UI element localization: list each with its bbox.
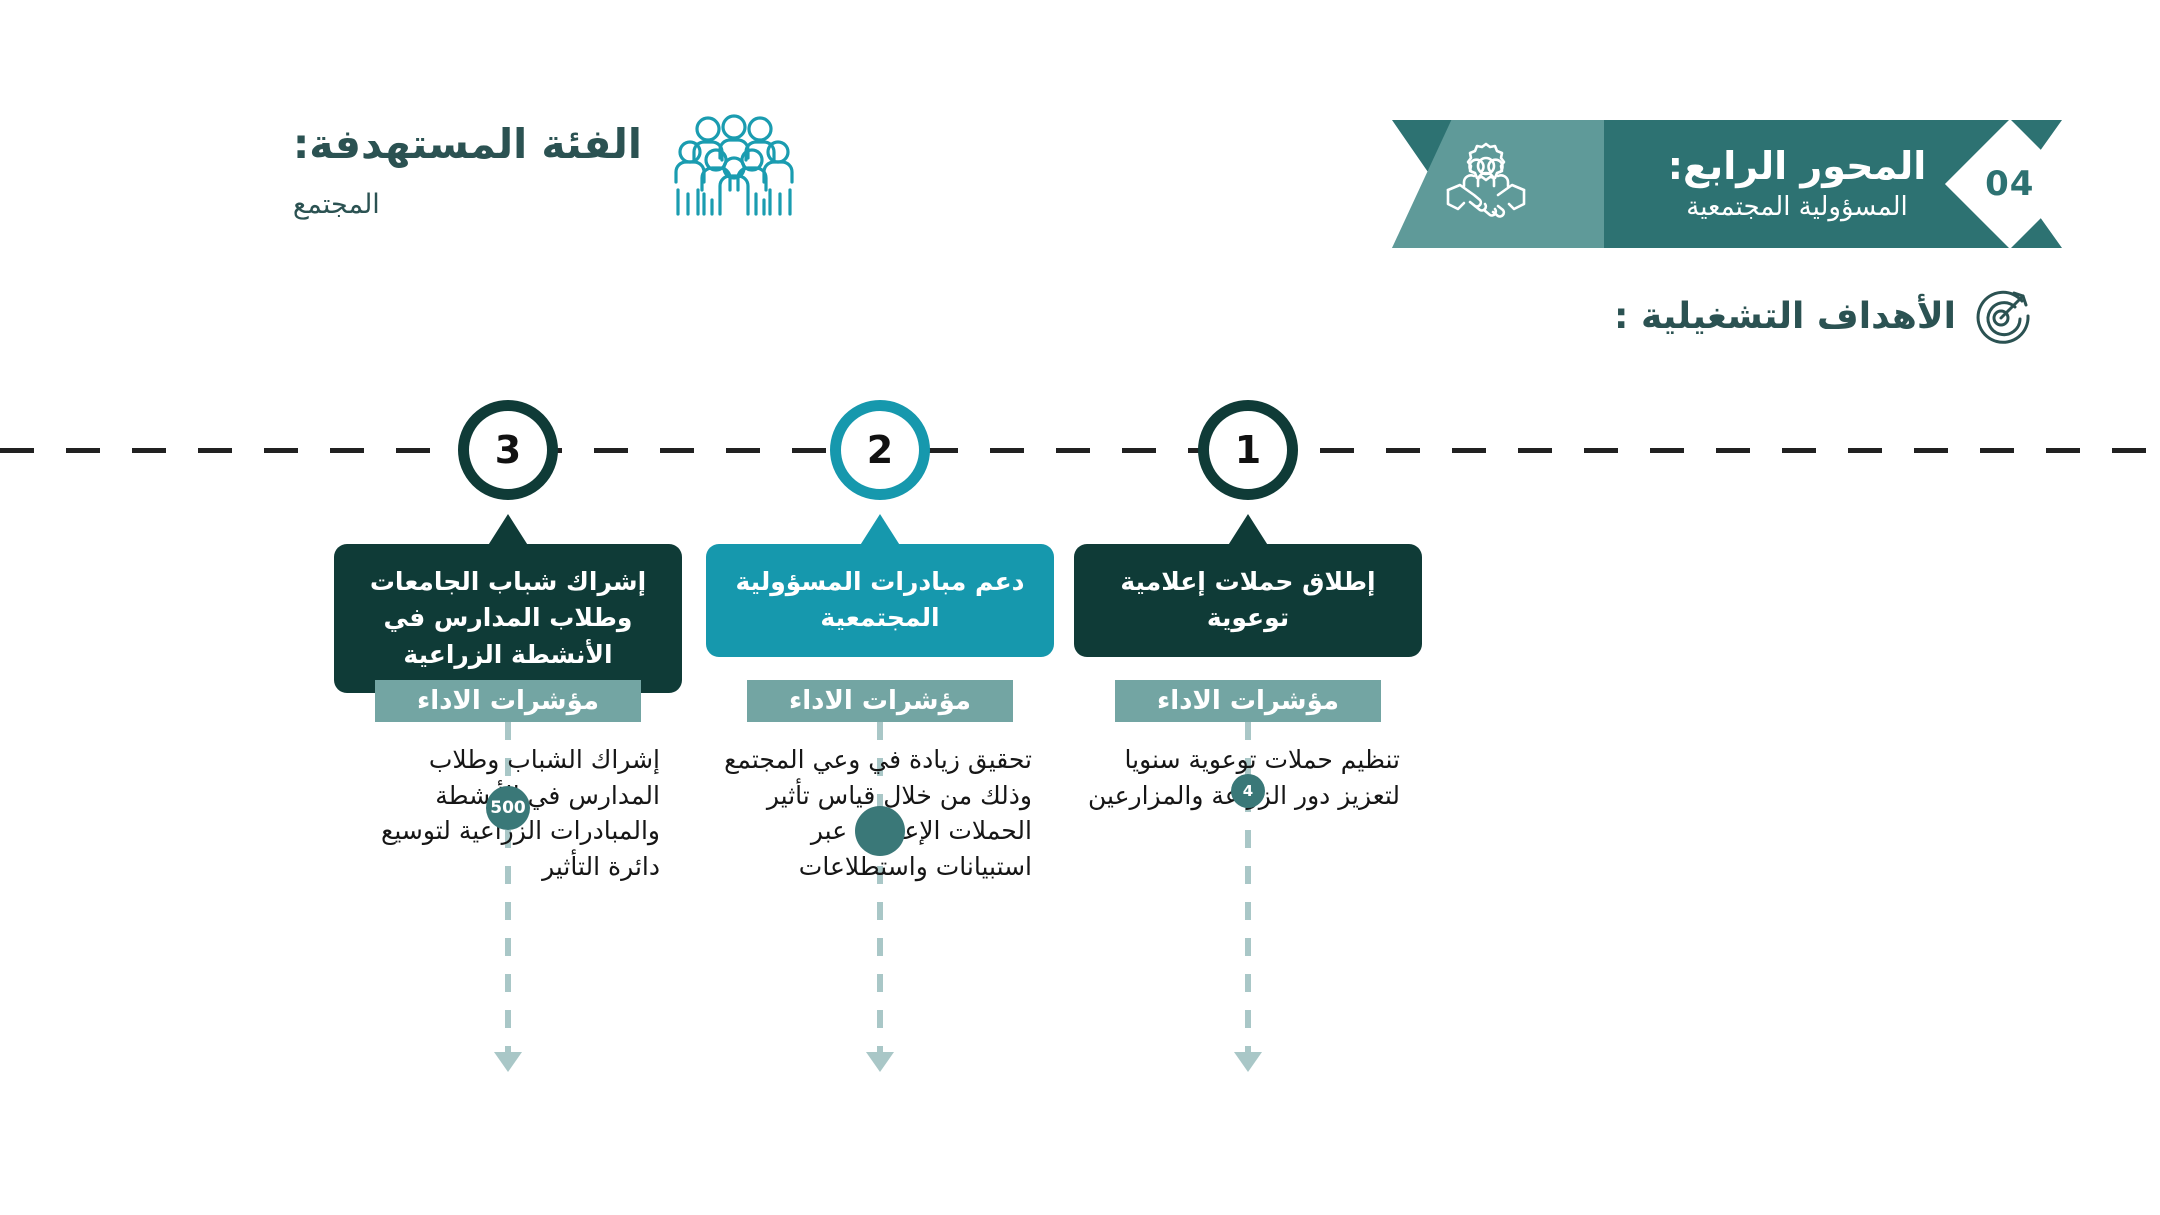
node-title-box[interactable]: دعم مبادرات المسؤولية المجتمعية: [706, 544, 1054, 657]
target-audience-block: الفئة المستهدفة: المجتمع: [560, 108, 800, 221]
node-number-circle[interactable]: 3: [458, 400, 558, 500]
connector-arrow-icon: [866, 1052, 894, 1072]
kpi-label: مؤشرات الاداء: [789, 686, 971, 716]
node-title: إطلاق حملات إعلامية توعوية: [1096, 564, 1400, 637]
connector-arrow-icon: [494, 1052, 522, 1072]
node-number: 2: [867, 428, 893, 472]
banner-title-group: المحور الرابع: المسؤولية المجتمعية: [1644, 120, 1950, 248]
kpi-value-badge: 500: [486, 786, 530, 830]
operational-objectives-label: الأهداف التشغيلية :: [1614, 296, 1956, 337]
kpi-value-badge: [855, 806, 905, 856]
node-title-box[interactable]: إطلاق حملات إعلامية توعوية: [1074, 544, 1422, 657]
banner-number: 04: [1985, 164, 2034, 204]
handshake-gear-icon: [1440, 138, 1532, 230]
callout-pointer-icon: [487, 514, 529, 547]
target-audience-title: الفئة المستهدفة:: [293, 122, 642, 167]
operational-objectives-heading: الأهداف التشغيلية :: [1614, 285, 2032, 347]
target-dart-icon: [1970, 285, 2032, 347]
node-number: 1: [1235, 428, 1261, 472]
axis-banner: المحور الرابع: المسؤولية المجتمعية 04: [1392, 120, 2062, 248]
slide-canvas: الفئة المستهدفة: المجتمع: [0, 0, 2160, 1215]
node-number: 3: [495, 428, 521, 472]
kpi-header-bar: مؤشرات الاداء: [375, 680, 641, 722]
kpi-label: مؤشرات الاداء: [1157, 686, 1339, 716]
people-group-icon: [668, 108, 800, 220]
callout-pointer-icon: [859, 514, 901, 547]
kpi-value: 4: [1243, 782, 1253, 800]
kpi-header-bar: مؤشرات الاداء: [747, 680, 1013, 722]
timeline-axis: [0, 448, 2160, 453]
node-number-circle[interactable]: 2: [830, 400, 930, 500]
node-title: إشراك شباب الجامعات وطلاب المدارس في الأ…: [356, 564, 660, 673]
kpi-header-bar: مؤشرات الاداء: [1115, 680, 1381, 722]
kpi-value: 500: [490, 798, 526, 818]
node-title: دعم مبادرات المسؤولية المجتمعية: [728, 564, 1032, 637]
node-number-circle[interactable]: 1: [1198, 400, 1298, 500]
banner-title: المحور الرابع:: [1668, 145, 1926, 189]
kpi-label: مؤشرات الاداء: [417, 686, 599, 716]
node-title-box[interactable]: إشراك شباب الجامعات وطلاب المدارس في الأ…: [334, 544, 682, 693]
callout-pointer-icon: [1227, 514, 1269, 547]
connector-arrow-icon: [1234, 1052, 1262, 1072]
target-audience-value: المجتمع: [293, 189, 380, 221]
banner-subtitle: المسؤولية المجتمعية: [1686, 192, 1908, 223]
kpi-value-badge: 4: [1231, 774, 1265, 808]
